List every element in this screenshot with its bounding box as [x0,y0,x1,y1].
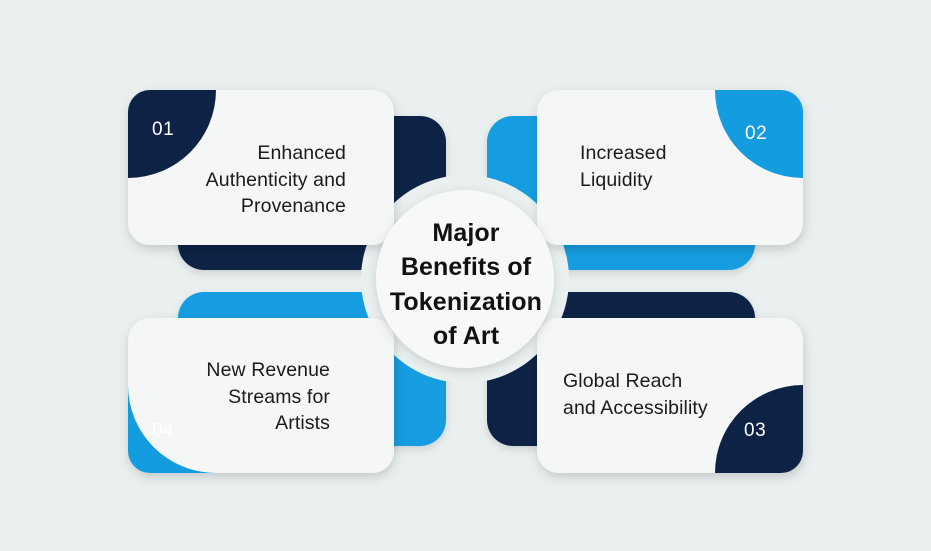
center-title: Major Benefits of Tokenization of Art [377,216,555,353]
card-02-number: 02 [745,123,767,145]
card-03-number: 03 [744,420,766,442]
card-01-label: Enhanced Authenticity and Provenance [196,140,346,220]
card-03-label: Global Reach and Accessibility [563,368,773,421]
card-02-label: Increased Liquidity [580,140,760,193]
card-04-label: New Revenue Streams for Artists [180,357,330,437]
card-04-number: 04 [152,420,174,442]
card-01-number: 01 [152,119,174,141]
infographic-canvas: Major Benefits of Tokenization of Art En… [0,0,931,551]
